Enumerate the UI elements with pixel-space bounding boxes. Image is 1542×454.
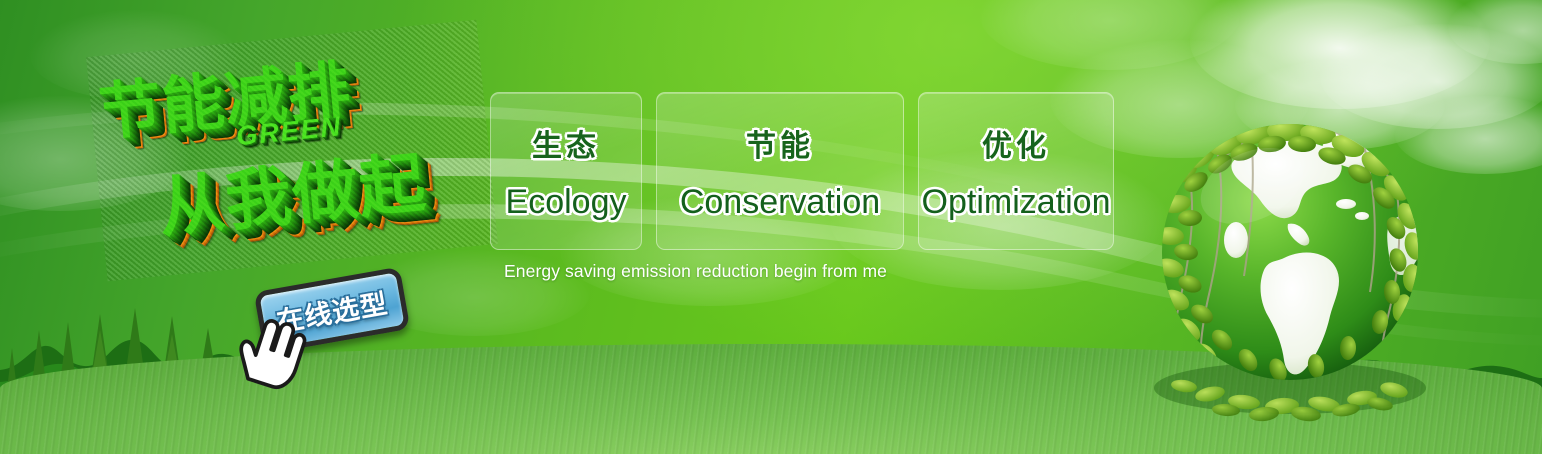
feature-card-cn-label: 节能 <box>746 121 814 165</box>
headline-3d-artwork: 节能减排 GREEN 从我做起 <box>86 20 498 282</box>
feature-card-cn-label: 生态 <box>532 121 600 165</box>
feature-card-en-label: Conservation <box>680 183 880 222</box>
feature-card-en-label: Optimization <box>922 183 1111 222</box>
online-selection-button[interactable]: 在线选型 <box>254 267 411 355</box>
banner-tagline: Energy saving emission reduction begin f… <box>504 261 887 282</box>
eco-promo-banner: 节能减排 GREEN 从我做起 在线选型 生态 Ecology 节能 Conse… <box>0 0 1542 454</box>
feature-card-cn-label: 优化 <box>982 121 1050 165</box>
cloud-icon <box>1448 0 1542 64</box>
cloud-icon <box>980 0 1240 70</box>
feature-card-ecology[interactable]: 生态 Ecology <box>490 92 642 250</box>
leafy-globe-icon <box>1140 112 1440 424</box>
feature-card-list: 生态 Ecology 节能 Conservation 优化 Optimizati… <box>490 92 1114 250</box>
feature-card-optimization[interactable]: 优化 Optimization <box>918 92 1114 250</box>
headline-bottom-text: 从我做起 <box>154 130 430 251</box>
feature-card-conservation[interactable]: 节能 Conservation <box>656 92 904 250</box>
cloud-icon <box>1190 0 1490 109</box>
feature-card-en-label: Ecology <box>506 183 627 222</box>
online-selection-label: 在线选型 <box>273 282 390 340</box>
